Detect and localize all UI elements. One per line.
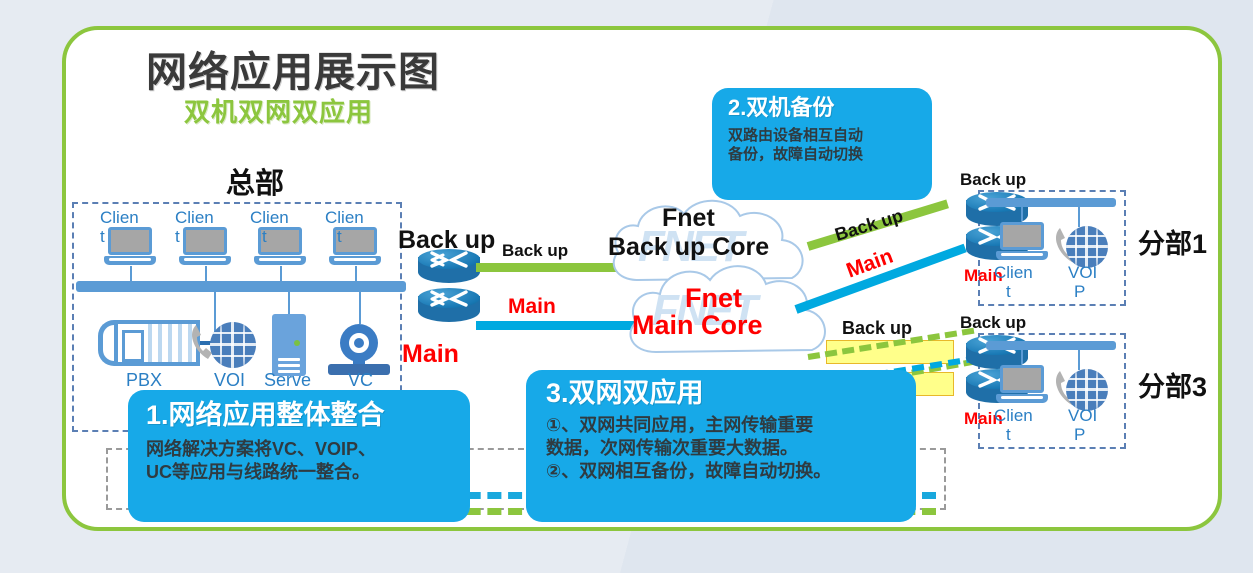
- device-label-vc: VC: [348, 370, 373, 391]
- callout-3[interactable]: 3.双网双应用 ①、双网共同应用，主网传输重要 数据，次网传输次重要大数据。 ②…: [526, 370, 916, 522]
- laptop-base: [254, 256, 306, 265]
- diagram-stage: 网络应用展示图 双机双网双应用 总部 Clien t Clien t Clien…: [66, 30, 1222, 531]
- server-icon: [272, 314, 306, 376]
- link-label-branch1-backup: Back up: [832, 205, 905, 246]
- callout-2-heading: 2.双机备份: [728, 96, 920, 121]
- branch-3-client-label-wrap: t: [1006, 425, 1011, 445]
- pbx-slot: [158, 324, 162, 362]
- link-label-backup: Back up: [502, 241, 568, 261]
- page-subtitle: 双机双网双应用: [184, 92, 373, 129]
- pbx-slot: [178, 324, 182, 362]
- client-label: Clien: [325, 208, 364, 228]
- branch-1-drop: [1021, 207, 1023, 221]
- client-label-wrap: t: [262, 227, 267, 247]
- client-label: Clien: [250, 208, 289, 228]
- callout-1[interactable]: 1.网络应用整体整合 网络解决方案将VC、VOIP、 UC等应用与线路统一整合。: [128, 390, 470, 522]
- laptop-base: [104, 256, 156, 265]
- laptop-base: [179, 256, 231, 265]
- device-label-voip: VOI: [214, 370, 245, 391]
- branch-1-bus: [986, 198, 1116, 207]
- voip-globe-icon: [210, 322, 256, 368]
- device-drop: [288, 292, 290, 314]
- laptop-screen: [108, 227, 152, 255]
- branch-1-client-laptop: [996, 222, 1048, 262]
- hq-router-main-label: Main: [402, 340, 459, 369]
- client-label-wrap: t: [337, 227, 342, 247]
- client-label-wrap: t: [100, 227, 105, 247]
- client-label: Clien: [175, 208, 214, 228]
- callout-3-body-line3: ②、双网相互备份，故障自动切换。: [546, 460, 902, 483]
- callout-1-body-line1: 网络解决方案将VC、VOIP、: [146, 438, 456, 461]
- branch-3-client-laptop: [996, 365, 1048, 405]
- link-label-branch3-backup: Back up: [842, 318, 912, 339]
- client-label-wrap: t: [175, 227, 180, 247]
- branch-1-label: 分部1: [1138, 222, 1207, 261]
- device-drop: [359, 292, 361, 324]
- client-drop: [280, 266, 282, 282]
- branch-1-client-label: Clien: [994, 263, 1033, 283]
- cloud-main-core-line2: Main Core: [632, 312, 763, 339]
- callout-1-heading: 1.网络应用整体整合: [146, 400, 456, 430]
- branch-3-voip-globe-icon: [1066, 369, 1108, 411]
- callout-3-body-line2: 数据，次网传输次重要大数据。: [546, 437, 902, 460]
- client-drop: [205, 266, 207, 282]
- branch-1-backup-label: Back up: [960, 170, 1026, 190]
- device-label-server: Serve: [264, 370, 311, 391]
- branch-3-voip-label: VOI: [1068, 406, 1097, 426]
- pbx-slot: [168, 324, 172, 362]
- client-drop: [355, 266, 357, 282]
- laptop-screen: [183, 227, 227, 255]
- branch-1-voip-label-wrap: P: [1074, 282, 1085, 302]
- callout-3-heading: 3.双网双应用: [546, 378, 902, 408]
- branch-1-client-label-wrap: t: [1006, 282, 1011, 302]
- branch-3-bus: [986, 341, 1116, 350]
- laptop-base: [329, 256, 381, 265]
- link-label-main: Main: [508, 295, 556, 319]
- branch-3-client-label: Clien: [994, 406, 1033, 426]
- device-label-pbx: PBX: [126, 370, 162, 391]
- hq-router-main[interactable]: [418, 288, 480, 328]
- branch-1-drop: [1078, 207, 1080, 227]
- headquarters-bus: [76, 281, 406, 292]
- server-vent: [278, 364, 300, 367]
- router-arrows-icon: [430, 290, 468, 307]
- branch-3-drop: [1021, 350, 1023, 364]
- callout-2-body-line1: 双路由设备相互自动: [728, 126, 920, 145]
- cloud-main-core-line1: Fnet: [685, 285, 742, 312]
- callout-2-body-line2: 备份，故障自动切换: [728, 145, 920, 164]
- branch-3-drop: [1078, 350, 1080, 370]
- branch-3-voip-label-wrap: P: [1074, 425, 1085, 445]
- pbx-icon: [114, 320, 200, 366]
- branch-1-voip-label: VOI: [1068, 263, 1097, 283]
- pbx-panel: [122, 330, 144, 362]
- client-laptop: [179, 227, 231, 267]
- page-title: 网络应用展示图: [146, 38, 440, 98]
- client-laptop: [104, 227, 156, 267]
- router-arrows-icon: [430, 251, 468, 268]
- headquarters-title: 总部: [226, 160, 284, 202]
- branch-1-voip-globe-icon: [1066, 226, 1108, 268]
- client-drop: [130, 266, 132, 282]
- callout-3-body-line1: ①、双网共同应用，主网传输重要: [546, 414, 902, 437]
- callout-1-body-line2: UC等应用与线路统一整合。: [146, 461, 456, 484]
- hq-router-backup[interactable]: [418, 249, 480, 289]
- branch-3-label: 分部3: [1138, 365, 1207, 404]
- callout-2[interactable]: 2.双机备份 双路由设备相互自动 备份，故障自动切换: [712, 88, 932, 200]
- cloud-backup-core-line1: Fnet: [662, 206, 715, 231]
- branch-3-backup-label: Back up: [960, 313, 1026, 333]
- server-led: [294, 340, 300, 346]
- diagram-card: 网络应用展示图 双机双网双应用 总部 Clien t Clien t Clien…: [62, 26, 1222, 531]
- client-label: Clien: [100, 208, 139, 228]
- pbx-slot: [148, 324, 152, 362]
- server-vent: [278, 358, 300, 361]
- pbx-handset-icon: [98, 320, 114, 366]
